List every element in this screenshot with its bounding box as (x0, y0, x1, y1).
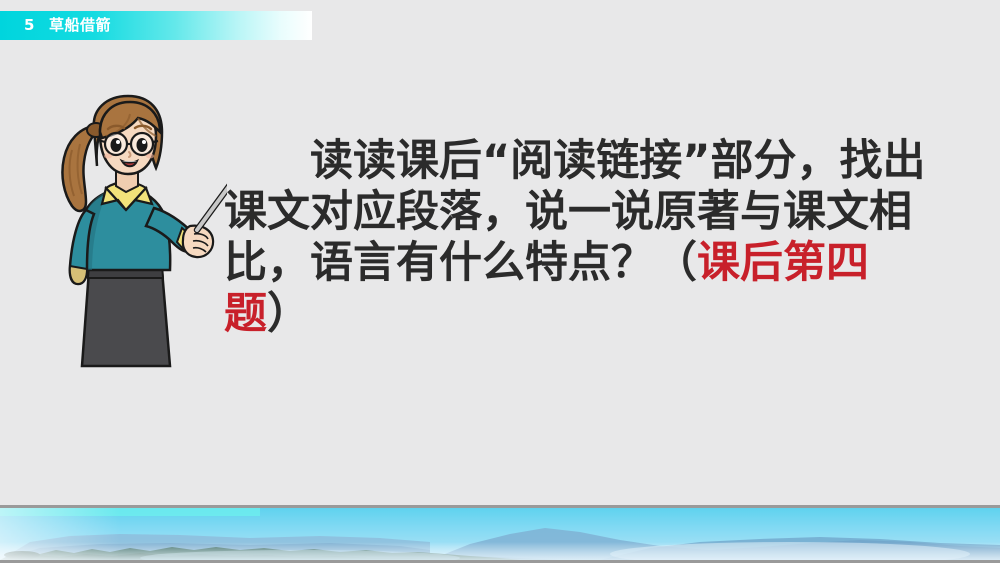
teacher-illustration (42, 88, 227, 373)
page-title: 5草船借箭 (24, 12, 111, 39)
landscape-banner-image (0, 505, 1000, 563)
lesson-title: 草船借箭 (49, 16, 111, 34)
lesson-question-text: 读读课后“阅读链接”部分，找出课文对应段落，说一说原著与课文相比，语言有什么特点… (224, 136, 930, 340)
question-text-part2: ） (267, 289, 310, 339)
pointer-stick (197, 174, 227, 230)
slide-root: 5草船借箭 (0, 0, 1000, 563)
lesson-number: 5 (24, 16, 35, 34)
